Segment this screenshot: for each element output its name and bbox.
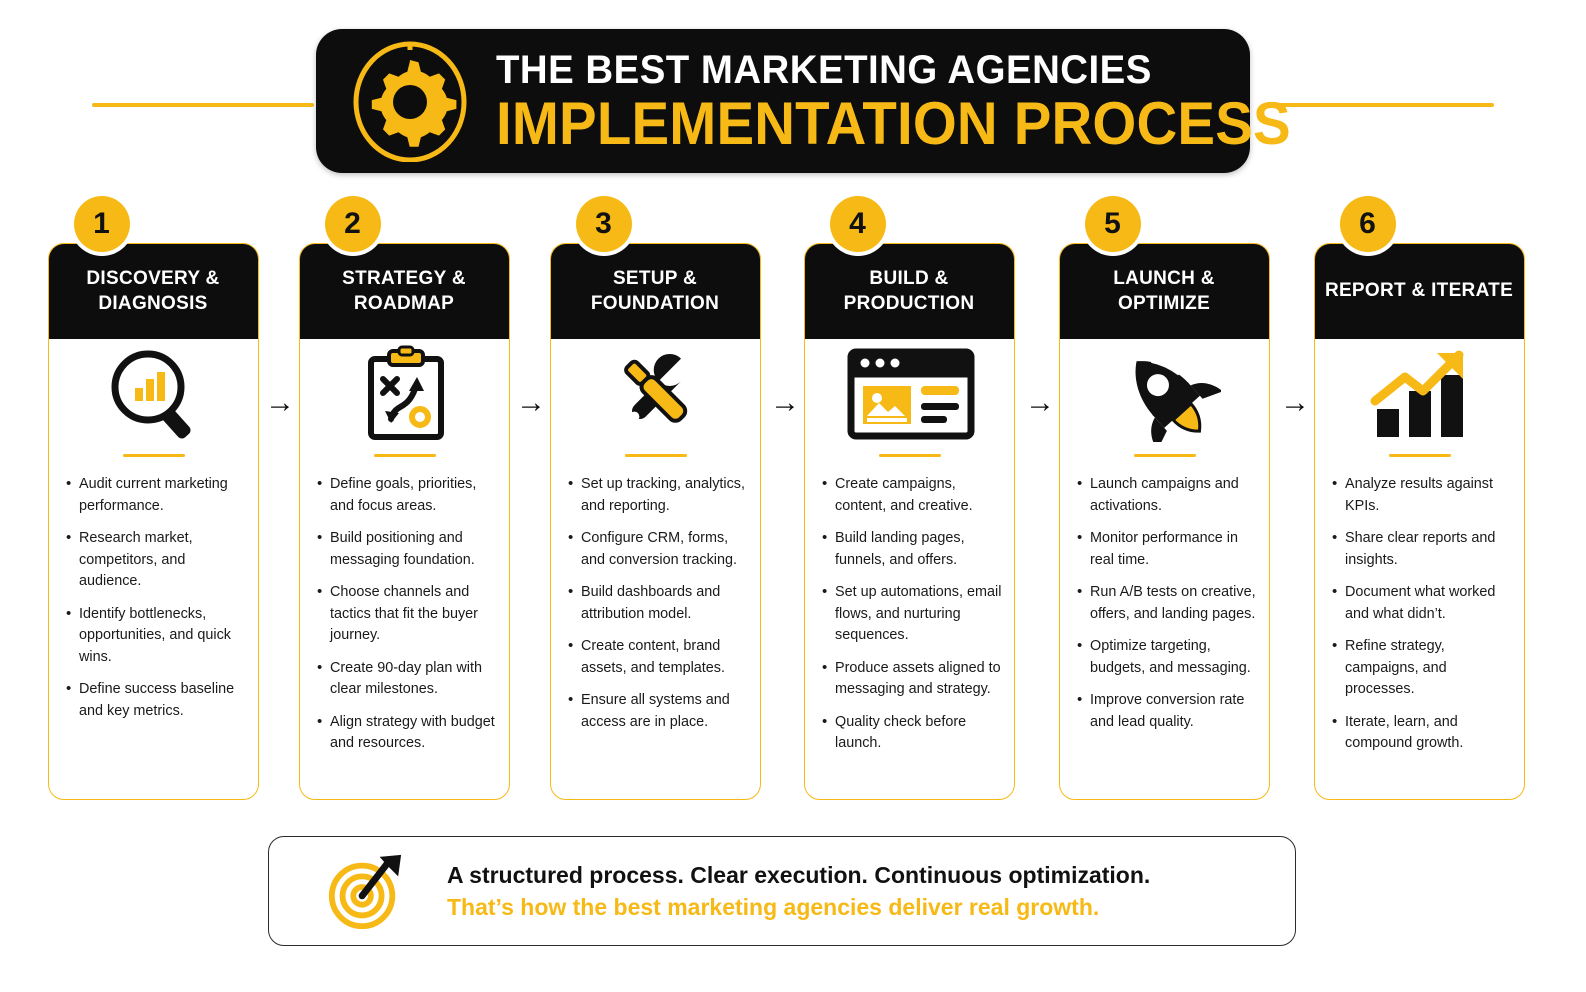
list-item: Define goals, priorities, and focus area… bbox=[330, 474, 497, 517]
list-item: Build landing pages, funnels, and offers… bbox=[835, 528, 1002, 571]
list-item: Identify bottlenecks, opportunities, and… bbox=[79, 604, 246, 669]
step-title-header-5: LAUNCH & OPTIMIZE bbox=[1059, 243, 1270, 339]
step-card-3[interactable]: 3 SETUP & FOUNDATION Se bbox=[550, 196, 761, 808]
step-card-5[interactable]: 5 LAUNCH & OPTIMIZE bbox=[1059, 196, 1270, 808]
step-title-6: REPORT & ITERATE bbox=[1317, 278, 1521, 303]
list-item: Document what worked and what didn’t. bbox=[1345, 582, 1512, 625]
step-number-badge-2: 2 bbox=[325, 196, 381, 252]
step-divider-6 bbox=[1389, 454, 1451, 457]
growth-bar-chart-arrow-icon bbox=[1315, 340, 1525, 448]
step-title-2: STRATEGY & ROADMAP bbox=[299, 266, 510, 316]
list-item: Audit current marketing performance. bbox=[79, 474, 246, 517]
step-divider-1 bbox=[123, 454, 185, 457]
step-number-badge-3: 3 bbox=[576, 196, 632, 252]
step-bullet-list-2: Define goals, priorities, and focus area… bbox=[300, 474, 510, 766]
list-item: Create 90-day plan with clear milestones… bbox=[330, 658, 497, 701]
magnifier-bar-chart-icon bbox=[49, 340, 259, 448]
list-item: Align strategy with budget and resources… bbox=[330, 712, 497, 755]
list-item: Optimize targeting, budgets, and messagi… bbox=[1090, 636, 1257, 679]
step-card-2[interactable]: 2 STRATEGY & ROADMAP Define goa bbox=[299, 196, 510, 808]
header: THE BEST MARKETING AGENCIES IMPLEMENTATI… bbox=[0, 0, 1586, 180]
process-steps: 1 DISCOVERY & DIAGNOSIS Audit current ma… bbox=[0, 196, 1586, 811]
step-card-body-2: STRATEGY & ROADMAP Define goals, priorit… bbox=[299, 243, 510, 800]
list-item: Analyze results against KPIs. bbox=[1345, 474, 1512, 517]
step-card-1[interactable]: 1 DISCOVERY & DIAGNOSIS Audit current ma… bbox=[48, 196, 259, 808]
step-divider-5 bbox=[1134, 454, 1196, 457]
flow-arrow-4: → bbox=[1023, 388, 1057, 418]
step-bullet-list-4: Create campaigns, content, and creative.… bbox=[805, 474, 1015, 766]
list-item: Configure CRM, forms, and conversion tra… bbox=[581, 528, 748, 571]
footer-line-2: That’s how the best marketing agencies d… bbox=[447, 891, 1150, 923]
title-line-2: IMPLEMENTATION PROCESS bbox=[496, 93, 1291, 155]
step-bullet-list-6: Analyze results against KPIs. Share clea… bbox=[1315, 474, 1525, 766]
list-item: Create content, brand assets, and templa… bbox=[581, 636, 748, 679]
step-number-badge-4: 4 bbox=[830, 196, 886, 252]
step-card-body-1: DISCOVERY & DIAGNOSIS Audit current mark… bbox=[48, 243, 259, 800]
step-card-body-3: SETUP & FOUNDATION Set up tracking, anal… bbox=[550, 243, 761, 800]
list-item: Ensure all systems and access are in pla… bbox=[581, 690, 748, 733]
flow-arrow-5: → bbox=[1278, 388, 1312, 418]
list-item: Create campaigns, content, and creative. bbox=[835, 474, 1002, 517]
list-item: Launch campaigns and activations. bbox=[1090, 474, 1257, 517]
step-card-body-5: LAUNCH & OPTIMIZE Launch c bbox=[1059, 243, 1270, 800]
footer-text-block: A structured process. Clear execution. C… bbox=[447, 859, 1150, 923]
list-item: Build dashboards and attribution model. bbox=[581, 582, 748, 625]
footer-line-1: A structured process. Clear execution. C… bbox=[447, 859, 1150, 891]
flow-arrow-2: → bbox=[514, 388, 548, 418]
footer-banner: A structured process. Clear execution. C… bbox=[268, 836, 1296, 946]
clipboard-strategy-icon bbox=[300, 340, 510, 448]
title-text-block: THE BEST MARKETING AGENCIES IMPLEMENTATI… bbox=[496, 47, 1342, 155]
list-item: Share clear reports and insights. bbox=[1345, 528, 1512, 571]
step-bullet-list-1: Audit current marketing performance. Res… bbox=[49, 474, 259, 733]
step-title-header-1: DISCOVERY & DIAGNOSIS bbox=[48, 243, 259, 339]
list-item: Monitor performance in real time. bbox=[1090, 528, 1257, 571]
header-rule-left bbox=[92, 103, 314, 107]
step-number-badge-5: 5 bbox=[1085, 196, 1141, 252]
step-card-body-6: REPORT & ITERATE Analyze results against… bbox=[1314, 243, 1525, 800]
step-card-body-4: BUILD & PRODUCTION bbox=[804, 243, 1015, 800]
step-divider-4 bbox=[879, 454, 941, 457]
flow-arrow-1: → bbox=[263, 388, 297, 418]
list-item: Quality check before launch. bbox=[835, 712, 1002, 755]
list-item: Define success baseline and key metrics. bbox=[79, 679, 246, 722]
list-item: Research market, competitors, and audien… bbox=[79, 528, 246, 593]
list-item: Set up automations, email flows, and nur… bbox=[835, 582, 1002, 647]
list-item: Produce assets aligned to messaging and … bbox=[835, 658, 1002, 701]
step-title-header-2: STRATEGY & ROADMAP bbox=[299, 243, 510, 339]
list-item: Run A/B tests on creative, offers, and l… bbox=[1090, 582, 1257, 625]
step-card-6[interactable]: 6 REPORT & ITERATE Analyze results again… bbox=[1314, 196, 1525, 808]
step-title-header-6: REPORT & ITERATE bbox=[1314, 243, 1525, 339]
step-title-4: BUILD & PRODUCTION bbox=[804, 266, 1015, 316]
gear-icon bbox=[346, 37, 474, 165]
list-item: Iterate, learn, and compound growth. bbox=[1345, 712, 1512, 755]
step-card-4[interactable]: 4 BUILD & PRODUCTION bbox=[804, 196, 1015, 808]
step-divider-3 bbox=[625, 454, 687, 457]
title-bar: THE BEST MARKETING AGENCIES IMPLEMENTATI… bbox=[316, 29, 1250, 173]
step-number-badge-6: 6 bbox=[1340, 196, 1396, 252]
step-title-5: LAUNCH & OPTIMIZE bbox=[1059, 266, 1270, 316]
step-bullet-list-5: Launch campaigns and activations. Monito… bbox=[1060, 474, 1270, 744]
list-item: Choose channels and tactics that fit the… bbox=[330, 582, 497, 647]
step-number-badge-1: 1 bbox=[74, 196, 130, 252]
target-dart-icon bbox=[325, 851, 405, 931]
step-title-3: SETUP & FOUNDATION bbox=[550, 266, 761, 316]
title-line-1: THE BEST MARKETING AGENCIES bbox=[496, 47, 1308, 93]
step-title-header-4: BUILD & PRODUCTION bbox=[804, 243, 1015, 339]
rocket-icon bbox=[1060, 340, 1270, 448]
list-item: Set up tracking, analytics, and reportin… bbox=[581, 474, 748, 517]
step-divider-2 bbox=[374, 454, 436, 457]
list-item: Refine strategy, campaigns, and processe… bbox=[1345, 636, 1512, 701]
wrench-screwdriver-icon bbox=[551, 340, 761, 448]
flow-arrow-3: → bbox=[768, 388, 802, 418]
list-item: Build positioning and messaging foundati… bbox=[330, 528, 497, 571]
list-item: Improve conversion rate and lead quality… bbox=[1090, 690, 1257, 733]
step-bullet-list-3: Set up tracking, analytics, and reportin… bbox=[551, 474, 761, 744]
step-title-header-3: SETUP & FOUNDATION bbox=[550, 243, 761, 339]
browser-window-icon bbox=[805, 340, 1015, 448]
step-title-1: DISCOVERY & DIAGNOSIS bbox=[48, 266, 259, 316]
